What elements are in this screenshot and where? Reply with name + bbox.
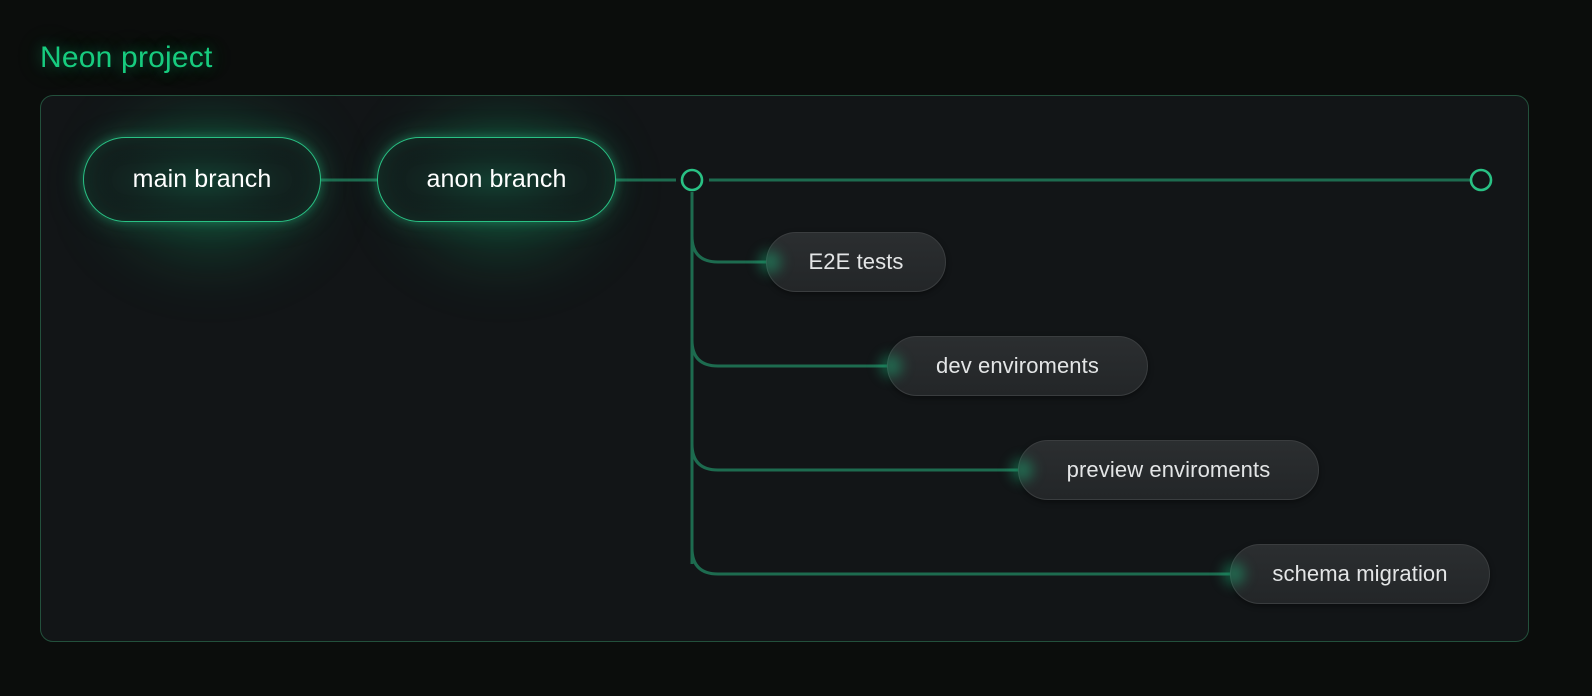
node-e2e-tests[interactable]: E2E tests xyxy=(766,232,946,292)
node-main-branch-label: main branch xyxy=(133,165,272,194)
wire-to-dev-environments xyxy=(692,340,889,366)
wire-to-preview-environments xyxy=(692,444,1020,470)
project-canvas: main branch anon branch E2E tests dev en… xyxy=(40,95,1529,642)
page-title: Neon project xyxy=(40,38,213,78)
node-schema-migration[interactable]: schema migration xyxy=(1230,544,1490,604)
diagram-stage: Neon project xyxy=(0,0,1592,696)
node-schema-migration-label: schema migration xyxy=(1272,561,1447,587)
timeline-end-ring[interactable] xyxy=(1471,170,1491,190)
node-preview-environments-label: preview enviroments xyxy=(1067,457,1271,483)
node-anon-branch[interactable]: anon branch xyxy=(377,137,616,222)
node-main-branch[interactable]: main branch xyxy=(83,137,321,222)
node-dev-environments[interactable]: dev enviroments xyxy=(887,336,1148,396)
wire-to-e2e-tests xyxy=(692,236,768,262)
wire-to-schema-migration xyxy=(692,548,1232,574)
node-preview-environments[interactable]: preview enviroments xyxy=(1018,440,1319,500)
node-dev-environments-label: dev enviroments xyxy=(936,353,1099,379)
branch-junction-ring[interactable] xyxy=(682,170,702,190)
node-e2e-tests-label: E2E tests xyxy=(808,249,903,275)
node-anon-branch-label: anon branch xyxy=(426,165,566,194)
